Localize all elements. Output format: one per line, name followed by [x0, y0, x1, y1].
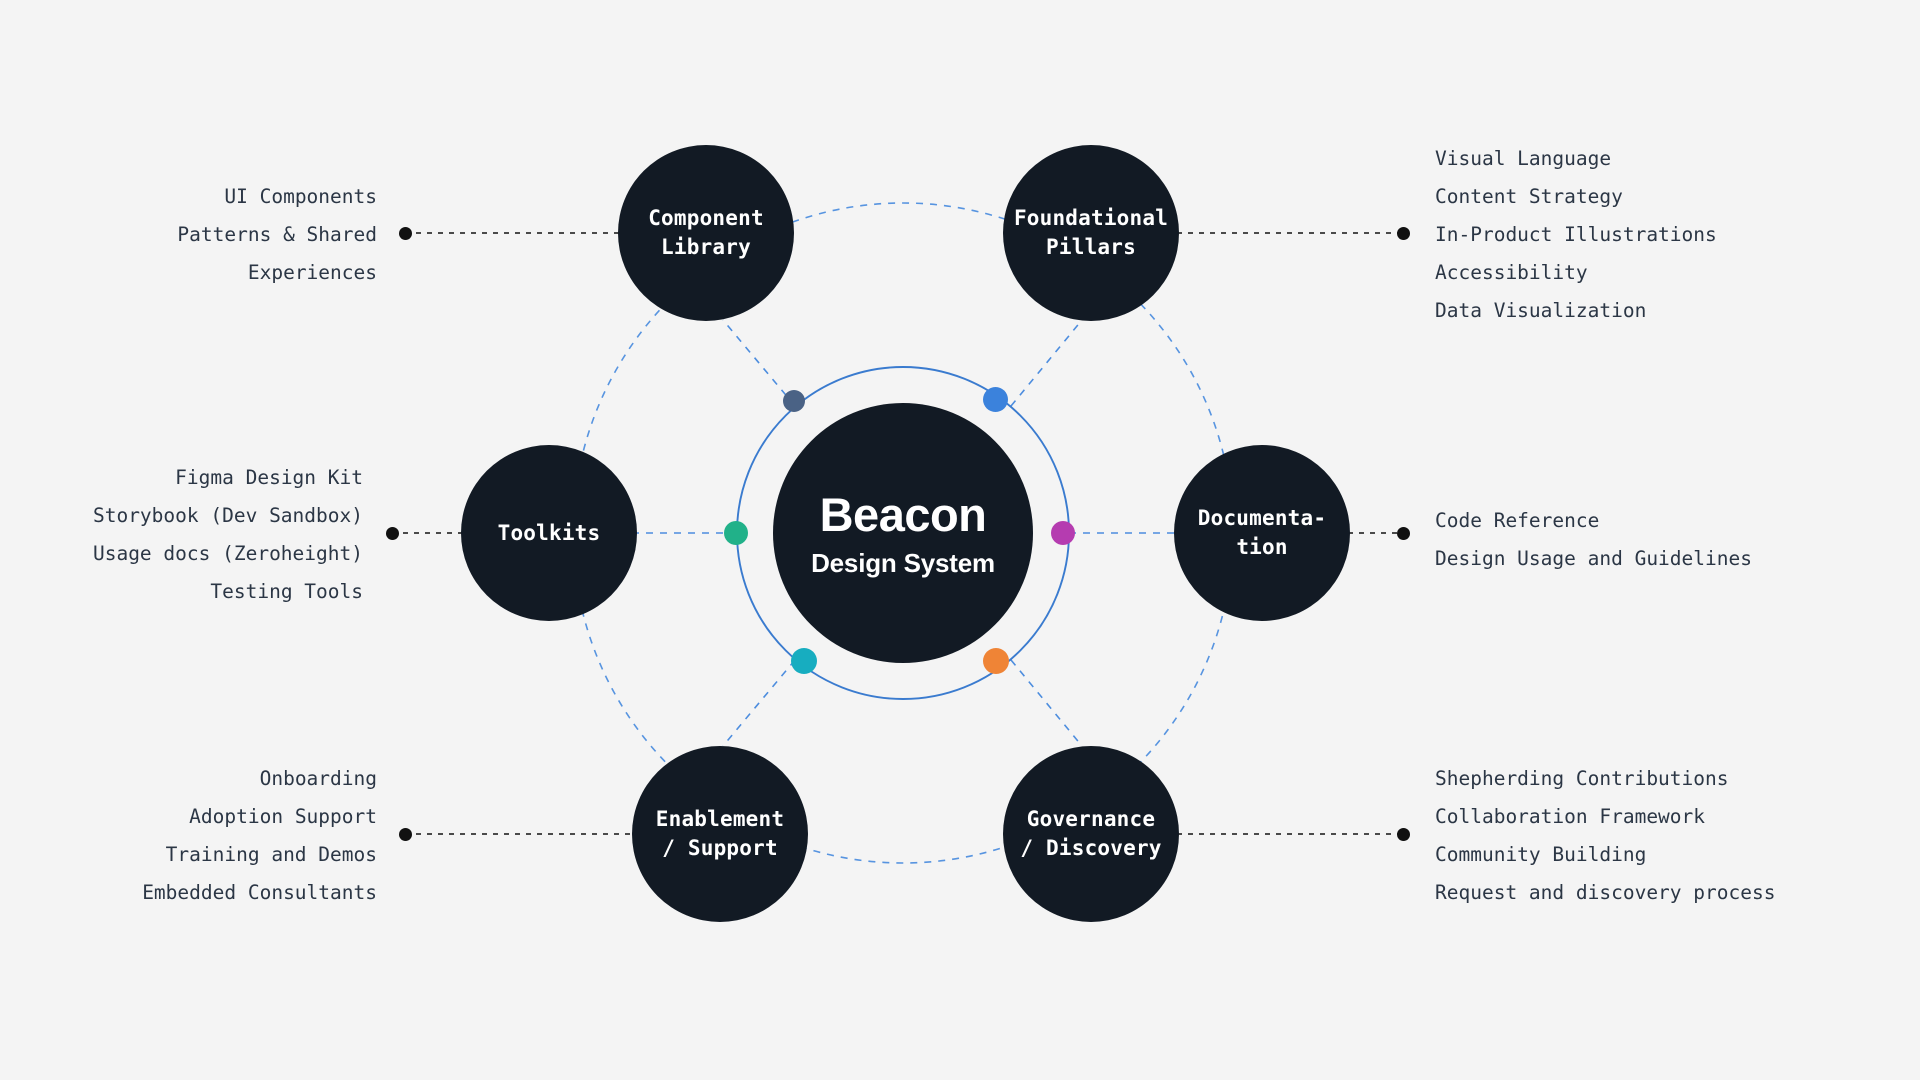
node-component-library[interactable]: Component Library	[618, 145, 794, 321]
end-dot-foundational-pillars	[1397, 227, 1410, 240]
label-item: Embedded Consultants	[142, 874, 377, 912]
label-item: Patterns & Shared	[177, 216, 377, 254]
label-item: Data Visualization	[1435, 292, 1717, 330]
label-item: Storybook (Dev Sandbox)	[93, 497, 363, 535]
component-library-details: UI Components Patterns & Shared Experien…	[177, 178, 377, 292]
spoke-component-library	[723, 320, 795, 406]
end-dot-documentation	[1397, 527, 1410, 540]
spoke-enablement-support	[723, 660, 795, 746]
label-item: Experiences	[177, 254, 377, 292]
end-dot-toolkits	[386, 527, 399, 540]
dot-governance-discovery	[983, 648, 1009, 674]
node-toolkits[interactable]: Toolkits	[461, 445, 637, 621]
label-item: Figma Design Kit	[93, 459, 363, 497]
dot-component-library	[783, 390, 805, 412]
node-foundational-pillars[interactable]: Foundational Pillars	[1003, 145, 1179, 321]
label-item: Visual Language	[1435, 140, 1717, 178]
label-item: UI Components	[177, 178, 377, 216]
spoke-foundational-pillars	[1011, 320, 1082, 406]
label-item: Code Reference	[1435, 502, 1752, 540]
label-item: Onboarding	[142, 760, 377, 798]
label-item: Collaboration Framework	[1435, 798, 1775, 836]
label-item: Usage docs (Zeroheight)	[93, 535, 363, 573]
label-item: Design Usage and Guidelines	[1435, 540, 1752, 578]
hub-title: Beacon	[820, 491, 987, 538]
toolkits-details: Figma Design Kit Storybook (Dev Sandbox)…	[93, 459, 363, 611]
end-dot-enablement-support	[399, 828, 412, 841]
node-documentation[interactable]: Documenta- tion	[1174, 445, 1350, 621]
label-item: In-Product Illustrations	[1435, 216, 1717, 254]
enablement-support-details: Onboarding Adoption Support Training and…	[142, 760, 377, 912]
label-item: Community Building	[1435, 836, 1775, 874]
label-item: Request and discovery process	[1435, 874, 1775, 912]
end-dot-component-library	[399, 227, 412, 240]
foundational-pillars-details: Visual Language Content Strategy In-Prod…	[1435, 140, 1717, 330]
label-item: Content Strategy	[1435, 178, 1717, 216]
node-governance-discovery[interactable]: Governance / Discovery	[1003, 746, 1179, 922]
dot-toolkits	[724, 521, 748, 545]
spoke-governance-discovery	[1011, 660, 1082, 746]
label-item: Training and Demos	[142, 836, 377, 874]
hub-beacon[interactable]: Beacon Design System	[773, 403, 1033, 663]
end-dot-governance-discovery	[1397, 828, 1410, 841]
documentation-details: Code Reference Design Usage and Guidelin…	[1435, 502, 1752, 578]
diagram-canvas: Beacon Design System Component Library F…	[0, 0, 1920, 1080]
label-item: Shepherding Contributions	[1435, 760, 1775, 798]
dot-enablement-support	[791, 648, 817, 674]
node-enablement-support[interactable]: Enablement / Support	[632, 746, 808, 922]
hub-subtitle: Design System	[811, 550, 995, 576]
label-item: Adoption Support	[142, 798, 377, 836]
label-item: Accessibility	[1435, 254, 1717, 292]
dot-foundational-pillars	[983, 387, 1008, 412]
dot-documentation	[1051, 521, 1075, 545]
governance-discovery-details: Shepherding Contributions Collaboration …	[1435, 760, 1775, 912]
label-item: Testing Tools	[93, 573, 363, 611]
